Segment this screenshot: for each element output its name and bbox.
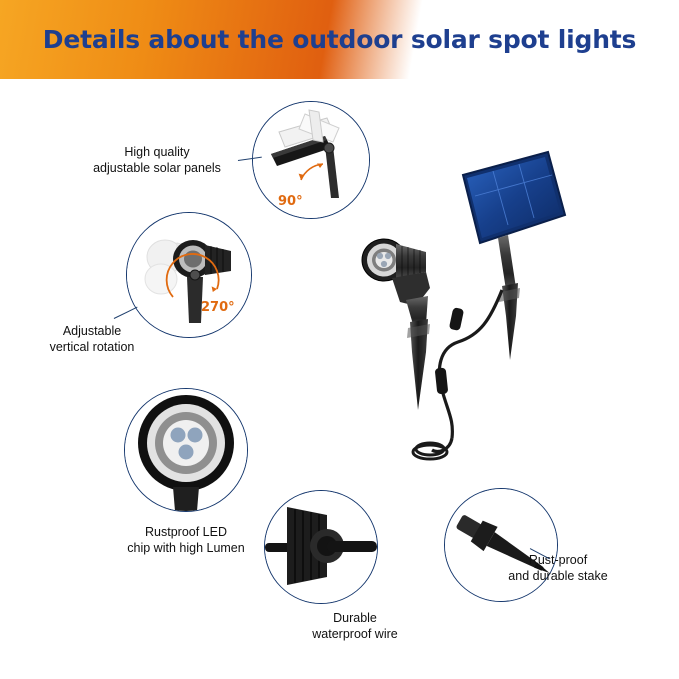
callout-circle-stake: [444, 488, 558, 602]
leader-line-vertical-rotation: [114, 307, 138, 319]
callout-label-waterproof-wire: Durable waterproof wire: [280, 610, 430, 642]
header-banner: Details about the outdoor solar spot lig…: [0, 0, 679, 79]
product-infographic: Details about the outdoor solar spot lig…: [0, 0, 679, 679]
callout-label-vertical-rotation: Adjustable vertical rotation: [22, 323, 162, 355]
callout-circle-waterproof-wire: [264, 490, 378, 604]
angle-badge-90: 90°: [278, 194, 303, 209]
page-title: Details about the outdoor solar spot lig…: [0, 0, 679, 79]
callout-label-stake: Rust-proof and durable stake: [478, 552, 638, 584]
stake-detail: [445, 489, 557, 601]
callout-label-solar-panel: High quality adjustable solar panels: [66, 144, 248, 176]
angle-badge-270: 270°: [201, 300, 235, 315]
solar-panel-hinge-detail: [253, 102, 369, 218]
callout-circle-vertical-rotation: [126, 212, 252, 338]
callout-circle-led-chip: [124, 388, 248, 512]
spot-light-graphic: [362, 239, 430, 410]
callout-label-led-chip: Rustproof LED chip with high Lumen: [92, 524, 280, 556]
led-chip-detail: [125, 389, 247, 511]
callout-circle-solar-panel: [252, 101, 370, 219]
vertical-rotation-detail: [127, 213, 251, 337]
waterproof-wire-detail: [265, 491, 377, 603]
product-illustration: [330, 120, 660, 520]
